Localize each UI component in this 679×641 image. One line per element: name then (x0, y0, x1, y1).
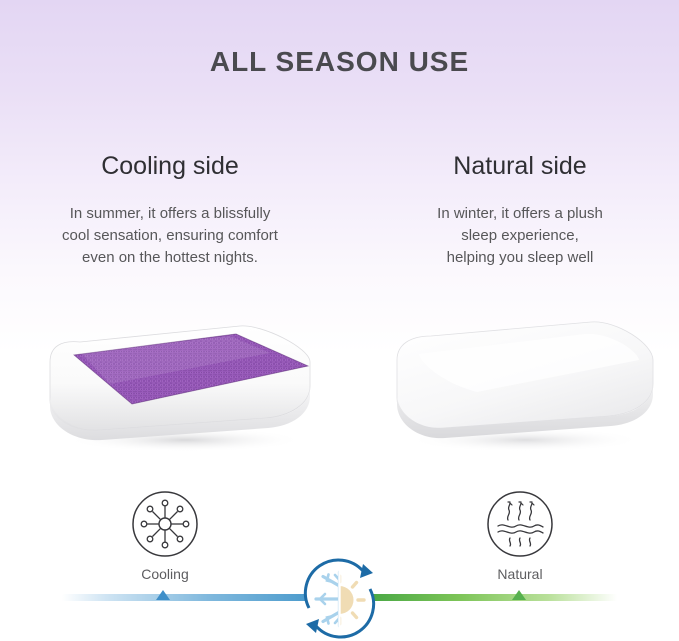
cycle-arrow-head-top (360, 564, 373, 578)
column-natural: Natural side In winter, it offers a plus… (370, 152, 670, 268)
feature-label-natural: Natural (460, 566, 580, 582)
feature-label-cooling: Cooling (105, 566, 225, 582)
feature-natural: Natural (460, 490, 580, 582)
column-heading-natural: Natural side (370, 152, 670, 181)
description-line: sleep experience, (370, 225, 670, 247)
description-line: even on the hottest nights. (20, 247, 320, 269)
purple-gel-pillow-svg (40, 300, 320, 460)
description-line: In summer, it offers a blissfully (20, 203, 320, 225)
natural-marker-triangle (512, 590, 526, 600)
page-title: ALL SEASON USE (0, 46, 679, 78)
column-description-cooling: In summer, it offers a blissfully cool s… (20, 203, 320, 268)
snowflake-radial-icon-svg (131, 490, 199, 558)
snowflake-sun-cycle-icon (297, 556, 382, 641)
purple-gel-pillow-image (40, 300, 320, 460)
snowflake-sun-cycle-icon-svg (297, 556, 382, 641)
cooling-gradient-bar (62, 594, 307, 601)
cycle-arrow-head-bottom (306, 619, 319, 633)
cooling-marker-triangle (156, 590, 170, 600)
description-line: helping you sleep well (370, 247, 670, 269)
column-description-natural: In winter, it offers a plush sleep exper… (370, 203, 670, 268)
white-memory-foam-pillow-image (385, 300, 665, 460)
description-line: In winter, it offers a plush (370, 203, 670, 225)
white-pillow-svg (385, 300, 665, 460)
description-line: cool sensation, ensuring comfort (20, 225, 320, 247)
column-cooling: Cooling side In summer, it offers a blis… (20, 152, 320, 268)
column-heading-cooling: Cooling side (20, 152, 320, 181)
snowflake-radial-icon (131, 490, 199, 558)
natural-gradient-bar (372, 594, 617, 601)
feature-cooling: Cooling (105, 490, 225, 582)
breathable-waves-icon (486, 490, 554, 558)
breathable-waves-icon-svg (486, 490, 554, 558)
